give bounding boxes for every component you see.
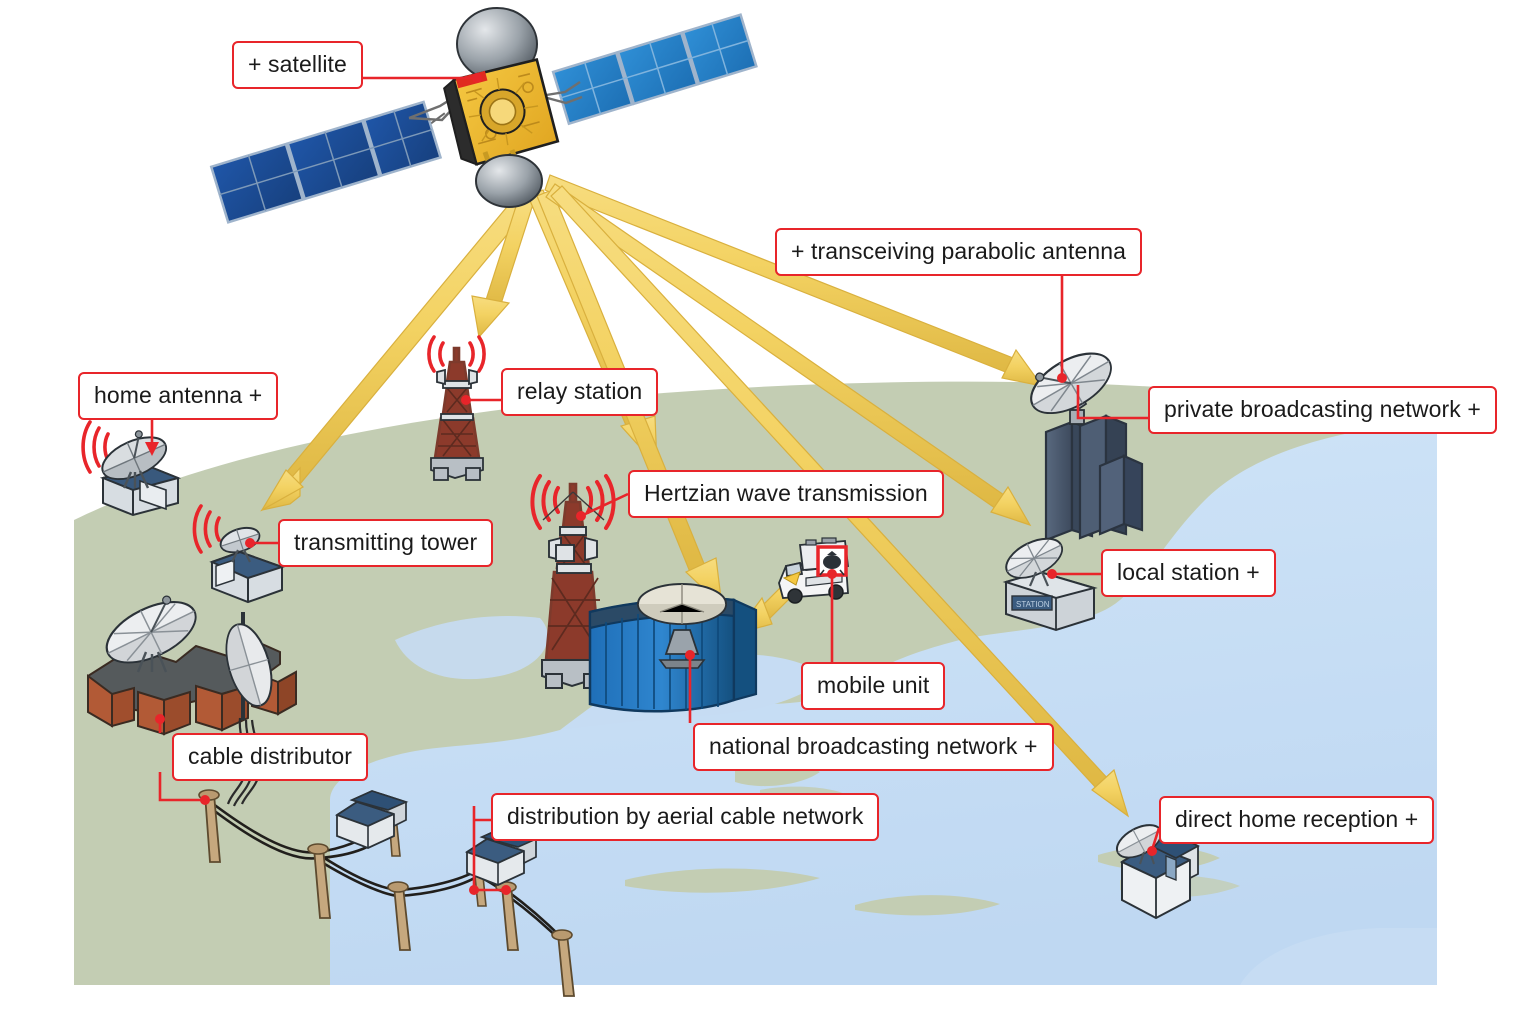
label-satellite[interactable]: + satellite	[232, 41, 363, 89]
label-cable-distributor[interactable]: cable distributor	[172, 733, 368, 781]
svg-text:STATION: STATION	[1016, 600, 1050, 609]
label-home-antenna[interactable]: home antenna +	[78, 372, 278, 420]
label-private-broadcasting-network[interactable]: private broadcasting network +	[1148, 386, 1497, 434]
label-mobile-unit[interactable]: mobile unit	[801, 662, 945, 710]
label-relay-station[interactable]: relay station	[501, 368, 658, 416]
label-distribution-by-aerial-cable-network[interactable]: distribution by aerial cable network	[491, 793, 879, 841]
label-transceiving-parabolic-antenna[interactable]: + transceiving parabolic antenna	[775, 228, 1142, 276]
label-transmitting-tower[interactable]: transmitting tower	[278, 519, 493, 567]
label-direct-home-reception[interactable]: direct home reception +	[1159, 796, 1434, 844]
label-national-broadcasting-network[interactable]: national broadcasting network +	[693, 723, 1054, 771]
diagram-canvas: STATION	[0, 0, 1537, 1023]
label-local-station[interactable]: local station +	[1101, 549, 1276, 597]
home-antenna-icon	[83, 422, 178, 515]
relay-tower-icon	[429, 337, 484, 480]
label-hertzian-wave-transmission[interactable]: Hertzian wave transmission	[628, 470, 944, 518]
